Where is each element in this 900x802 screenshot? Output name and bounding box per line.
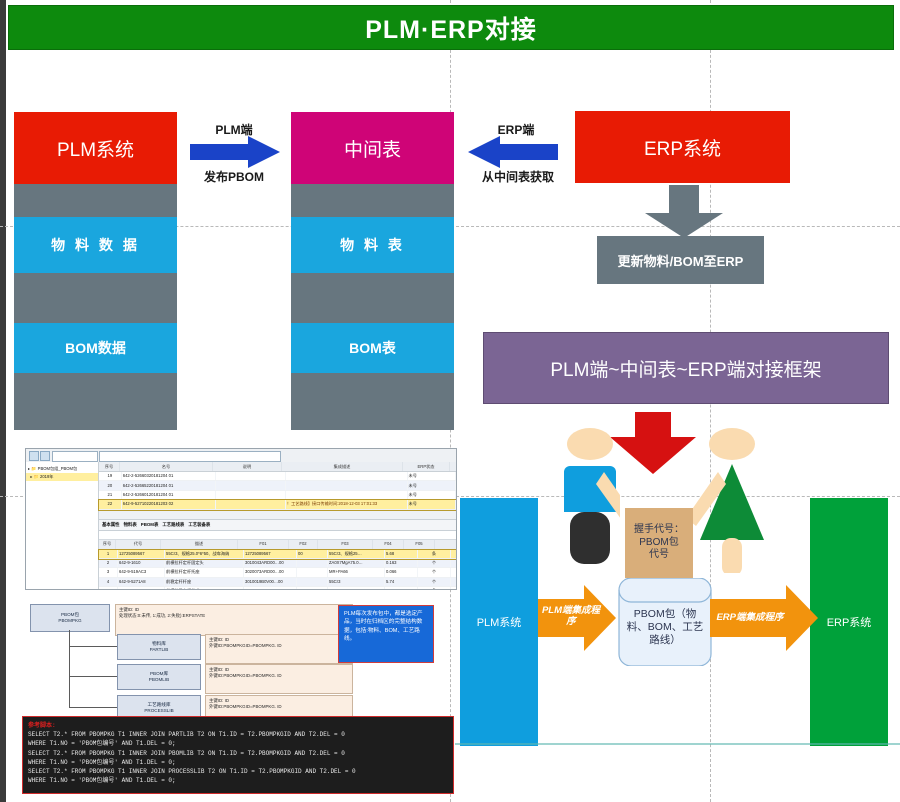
page-title: PLM·ERP对接 [365,10,537,46]
plm-system-spacer-1 [14,184,177,217]
tab-process-route-table[interactable]: 工艺路线表 [162,522,184,528]
middle-table-header: 中间表 [291,112,454,184]
plm-bom-data: BOM数据 [14,323,177,373]
sql-reference-script-block: 参考脚本: SELECT T2.* FROM PBOMPKG T1 INNER … [22,716,454,794]
bcol-desc: 描述 [161,540,238,549]
bcol-seq: 序号 [99,540,116,549]
struct-node-root: PBOM包 PBOMPKG [30,604,110,632]
tree-node-root[interactable]: ▸ 📁 PBOM包组_PBOM包 [26,465,98,473]
framework-erp-system-box: ERP系统 [810,498,888,746]
table-row[interactable]: 1 12725089567 55Cr3、规格25.0*6*50、战车海纳 127… [99,550,456,559]
sql-header: 参考脚本: [28,720,448,729]
struct-note-root: 主键ID: ID 处理状态:0:未传, 1:成功, 2:失败):ERPSTATE [115,604,353,636]
search-input[interactable] [52,451,98,462]
struct-note-pbomlib: 主键ID: ID 外键ID:PBOMPKGID=PBOMPKG. ID [205,664,353,694]
grid-scrollbar[interactable] [99,510,456,519]
plm-system-spacer-3 [14,373,177,430]
struct-note-partlib: 主键ID: ID 外键ID:PBOMPKGID=PBOMPKG. ID [205,634,353,664]
refresh-icon[interactable] [29,451,39,461]
arrow-fetch-from-middle-label: 从中间表获取 [470,168,566,185]
plm-system-header: PLM系统 [14,112,177,184]
app-content-panel: 序号 名号 说明 集成描述 ERP状态 19 642-2-52660320181… [99,462,456,589]
middle-material-table: 物 料 表 [291,217,454,273]
tab-basic-attributes[interactable]: 基本属性 [102,522,120,528]
col-seq: 序号 [99,462,120,471]
arrow-plm-to-middle-icon [190,136,280,168]
sql-line: SELECT T2.* FROM PBOMPKG T1 INNER JOIN P… [28,767,448,776]
col-erp-status: ERP状态 [403,462,450,471]
struct-branch-1 [69,646,117,647]
middle-table-spacer-2 [291,273,454,323]
table-row-selected[interactable]: 22 642-9-52710220181203 02 ！工艺路线】接口传输时间:… [99,500,456,509]
bcol-f05: F05 [404,540,435,549]
handshake-code-box: 握手代号： PBOM包 代号 [625,508,693,578]
handshake-code-label: 握手代号： PBOM包 代号 [634,524,684,562]
sql-line: WHERE T1.NO = 'PBOM包编号' AND T1.DEL = 0; [28,776,448,785]
middle-table-spacer-3 [291,373,454,430]
red-down-arrow-icon [610,412,696,474]
sql-line: SELECT T2.* FROM PBOMPKG T1 INNER JOIN P… [28,730,448,739]
erp-integration-program-label: ERP端集成程序 [713,612,787,623]
bcol-f01: F01 [238,540,289,549]
col-code: 名号 [120,462,213,471]
embedded-app-screenshot[interactable]: ▸ 📁 PBOM包组_PBOM包 ▸ 📁 2019年 序号 名号 说明 集成描述… [25,448,457,590]
pbom-package-label: PBOM包（物 料、BOM、工艺 路线） [617,608,713,647]
table-row[interactable]: 4 642-9-5271A8 前稳定杆杆座 3010019B0V00…00 55… [99,578,456,587]
expand-icon[interactable] [40,451,50,461]
bottom-grid-header: 序号 代号 描述 F01 F02 F03 F04 F05 [99,540,456,550]
person-right-icon [692,428,770,573]
struct-branch-2 [69,676,117,677]
table-row[interactable]: 21 642-2-52660120181204 01 未号 [99,491,456,500]
arrow-middle-to-erp-icon [468,136,558,168]
table-row[interactable]: 2 642-9-1610 前横拉杆定杆固定头 3010043ARD00…00 Z… [99,559,456,568]
tab-process-equipment-table[interactable]: 工艺装备表 [188,522,210,528]
pbom-structure-diagram: PBOM包 PBOMPKG 主键ID: ID 处理状态:0:未传, 1:成功, … [25,600,355,712]
table-row[interactable]: 5 642-9-52710 前横拉稳定杆总成 3010019B0V00…00 5… [99,587,456,590]
detail-tabs[interactable]: 基本属性 物料表 PBOM表 工艺路线表 工艺装备表 [99,519,456,531]
top-grid-header: 序号 名号 说明 集成描述 ERP状态 [99,462,456,472]
middle-table-spacer-1 [291,184,454,217]
filter-input[interactable] [99,451,281,462]
bcol-f04: F04 [373,540,404,549]
bcol-f03: F03 [318,540,373,549]
framework-plm-system-box: PLM系统 [460,498,538,746]
table-row[interactable]: 20 642-2-52665220181204 01 未号 [99,481,456,490]
slide-title-bar: PLM·ERP对接 [8,5,894,50]
app-toolbar[interactable] [26,449,456,463]
struct-trunk-line [69,630,70,708]
erp-system-box: ERP系统 [575,111,790,183]
tree-node-child[interactable]: ▸ 📁 2019年 [26,473,98,481]
bcol-f02: F02 [289,540,318,549]
col-desc: 说明 [213,462,282,471]
arrow-erp-update-icon [645,185,723,238]
tab-material-table[interactable]: 物料表 [124,522,137,528]
framework-banner-label: PLM端~中间表~ERP端对接框架 [550,355,821,382]
plm-material-data: 物 料 数 据 [14,217,177,273]
framework-scene: 握手代号： PBOM包 代号 PLM系统 ERP系统 PLM端集成程序 PBOM… [455,420,900,735]
table-row[interactable]: 3 642-9-519AC3 前横拉杆定杆托座 3020073ARD00…00 … [99,568,456,577]
detail-filter-bar[interactable] [99,531,456,540]
sql-line: WHERE T1.NO = 'PBOM包编号' AND T1.DEL = 0; [28,739,448,748]
person-left-icon [560,428,620,573]
arrow-publish-pbom-label: 发布PBOM [188,168,280,185]
sql-line: SELECT T2.* FROM PBOMPKG T1 INNER JOIN P… [28,749,448,758]
col-integration: 集成描述 [282,462,403,471]
update-material-bom-box: 更新物料/BOM至ERP [597,236,764,284]
app-tree-panel[interactable]: ▸ 📁 PBOM包组_PBOM包 ▸ 📁 2019年 [26,462,99,589]
struct-node-partlib: 物料库 PARTLIB [117,634,201,660]
table-row[interactable]: 19 642-2-52660320181204 01 未号 [99,472,456,481]
sql-line: WHERE T1.NO = 'PBOM包编号' AND T1.DEL = 0; [28,758,448,767]
plm-system-spacer-2 [14,273,177,323]
struct-node-pbomlib: PBOM库 PBOMLIB [117,664,201,690]
slide-canvas: PLM·ERP对接 PLM系统 物 料 数 据 BOM数据 PLM端 发布PBO… [0,0,900,802]
middle-bom-table: BOM表 [291,323,454,373]
plm-integration-program-label: PLM端集成程序 [540,605,602,628]
framework-banner: PLM端~中间表~ERP端对接框架 [483,332,889,404]
blue-callout-note: PLM每次发布包中，都是选定产品，当时在归档区的完整结构数据，包括:物料、BOM… [338,605,434,663]
slide-left-edge [0,0,6,802]
tab-pbom-table[interactable]: PBOM表 [141,522,159,528]
bcol-code: 代号 [116,540,161,549]
struct-branch-3 [69,707,117,708]
scene-baseline [455,743,900,745]
